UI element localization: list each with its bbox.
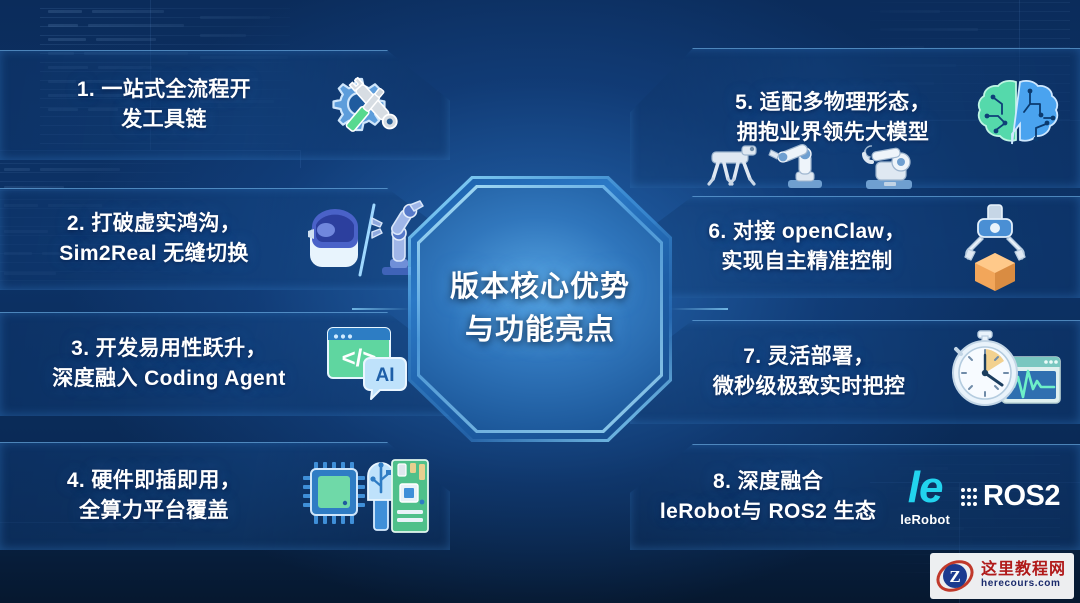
feature-3-line2: 深度融入 Coding Agent [14, 364, 324, 394]
spoke-right [670, 308, 728, 310]
feature-4-text: 4. 硬件即插即用， 全算力平台覆盖 [14, 466, 294, 526]
feature-6-line2: 实现自主精准控制 [682, 247, 932, 277]
vr-headset-robot-arm-icon [296, 193, 426, 285]
feature-2-line1: 2. 打破虚实鸿沟， [67, 212, 241, 235]
watermark-badge-icon: Z [936, 557, 974, 595]
feature-2-text: 2. 打破虚实鸿沟， Sim2Real 无缝切换 [14, 209, 294, 269]
lerobot-logo-mark: le [908, 467, 943, 509]
feature-5-robot-icons [700, 138, 950, 192]
infographic-stage: 1. 一站式全流程开 发工具链 [0, 0, 1080, 603]
robot-arm-icon [769, 143, 822, 188]
svg-text:AI: AI [376, 365, 395, 386]
feature-panel-2[interactable]: 2. 打破虚实鸿沟， Sim2Real 无缝切换 [0, 188, 450, 290]
feature-1-text: 1. 一站式全流程开 发工具链 [14, 75, 314, 135]
robot-gripper-box-icon [954, 201, 1040, 293]
feature-8-line1: 8. 深度融合 [713, 470, 823, 493]
spoke-left [352, 308, 410, 310]
feature-panel-4[interactable]: 4. 硬件即插即用， 全算力平台覆盖 [0, 442, 450, 550]
feature-6-text: 6. 对接 openClaw， 实现自主精准控制 [682, 217, 932, 277]
watermark-text: 这里教程网 herecours.com [981, 562, 1066, 589]
chip-usb-board-icon [300, 454, 430, 538]
feature-2-line2: Sim2Real 无缝切换 [14, 239, 294, 269]
center-hexagon: 版本核心优势 与功能亮点 [408, 176, 672, 442]
lerobot-ros2-logo: le leRobot ROS2 [900, 467, 1060, 527]
feature-panel-6[interactable]: 6. 对接 openClaw， 实现自主精准控制 [630, 196, 1080, 298]
feature-7-text: 7. 灵活部署， 微秒级极致实时把控 [674, 342, 944, 402]
industrial-arm-icon [864, 146, 912, 189]
center-title: 版本核心优势 与功能亮点 [408, 176, 672, 442]
stopwatch-monitor-icon [946, 329, 1066, 415]
feature-6-line1: 6. 对接 openClaw， [708, 220, 905, 243]
gear-wrench-screwdriver-icon [318, 57, 414, 153]
feature-7-line2: 微秒级极致实时把控 [674, 372, 944, 402]
feature-panel-7[interactable]: 7. 灵活部署， 微秒级极致实时把控 [630, 320, 1080, 424]
feature-3-line1: 3. 开发易用性跃升， [71, 337, 267, 360]
ros2-dots-icon [960, 486, 978, 508]
feature-1-line2: 发工具链 [14, 105, 314, 135]
feature-panel-3[interactable]: 3. 开发易用性跃升， 深度融入 Coding Agent </> AI [0, 312, 450, 416]
code-window-ai-chat-icon: </> AI [320, 320, 412, 408]
center-title-line1: 版本核心优势 [450, 266, 630, 309]
feature-1-line1: 1. 一站式全流程开 [77, 78, 251, 101]
lerobot-logo-word: leRobot [900, 512, 950, 527]
feature-4-line2: 全算力平台覆盖 [14, 496, 294, 526]
feature-4-line1: 4. 硬件即插即用， [67, 469, 241, 492]
svg-text:Z: Z [949, 567, 960, 586]
center-title-line2: 与功能亮点 [465, 309, 615, 352]
feature-panel-8[interactable]: 8. 深度融合 leRobot与 ROS2 生态 le leRobot ROS2 [630, 444, 1080, 550]
watermark-en: herecours.com [981, 579, 1066, 590]
ros2-logo: ROS2 [960, 480, 1060, 513]
ros2-logo-text: ROS2 [983, 480, 1060, 513]
ai-brain-icon [970, 72, 1066, 164]
feature-8-line2: leRobot与 ROS2 生态 [644, 497, 892, 527]
feature-5-line1: 5. 适配多物理形态， [735, 91, 931, 114]
watermark: Z 这里教程网 herecours.com [930, 553, 1074, 599]
feature-8-text: 8. 深度融合 leRobot与 ROS2 生态 [644, 467, 892, 527]
feature-panel-1[interactable]: 1. 一站式全流程开 发工具链 [0, 50, 450, 160]
watermark-cn: 这里教程网 [981, 562, 1066, 579]
lerobot-logo: le leRobot [900, 467, 950, 527]
feature-3-text: 3. 开发易用性跃升， 深度融入 Coding Agent [14, 334, 324, 394]
quadruped-robot-icon [709, 146, 756, 184]
feature-7-line1: 7. 灵活部署， [743, 345, 875, 368]
